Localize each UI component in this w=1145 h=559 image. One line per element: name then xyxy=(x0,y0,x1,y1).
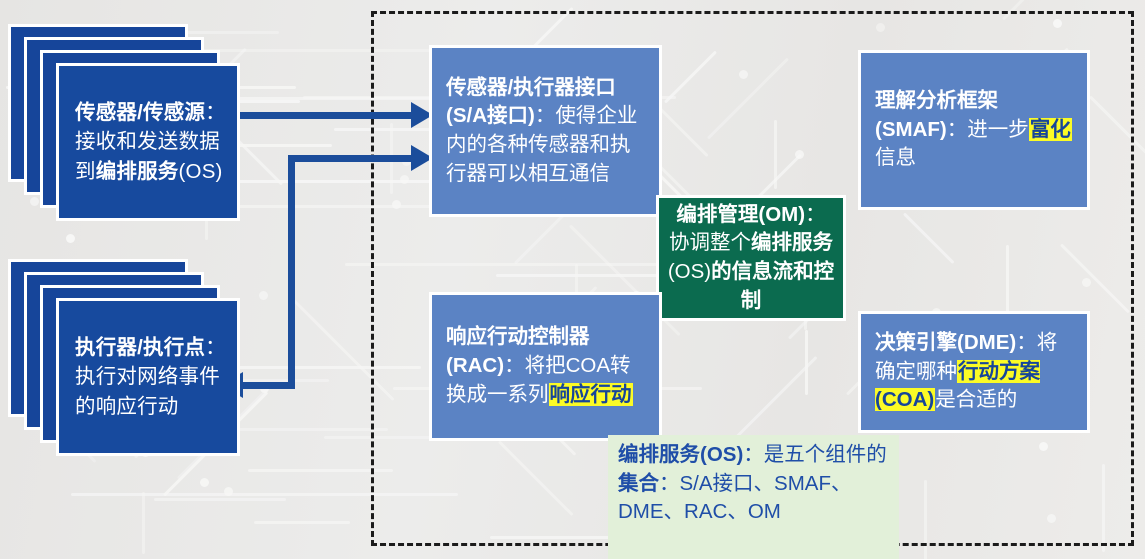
connector-loop-horizontal-top xyxy=(288,155,422,162)
panel-om[interactable]: 编排管理(OM)：协调整个编排服务(OS)的信息流和控制 xyxy=(656,195,846,321)
seg-os-title: 编排服务(OS) xyxy=(618,443,743,466)
seg-om-title: 编排管理(OM) xyxy=(676,203,805,226)
seg-om-de: 的 xyxy=(711,260,732,283)
panel-sa-interface-text: 传感器/执行器接口(S/A接口)：使得企业内的各种传感器和执行器可以相互通信 xyxy=(432,74,659,189)
panel-dme[interactable]: 决策引擎(DME)：将确定哪种行动方案(COA)是合适的 xyxy=(858,311,1090,433)
panel-smaf[interactable]: 理解分析框架(SMAF)：进一步富化信息 xyxy=(858,50,1090,210)
panel-rac[interactable]: 响应行动控制器(RAC)：将把COA转换成一系列响应行动 xyxy=(429,292,662,441)
card-sensor-source[interactable]: 传感器/传感源：接收和发送数据到编排服务(OS) xyxy=(56,63,240,221)
panel-os-summary-text: 编排服务(OS)：是五个组件的集合：S/A接口、SMAF、DME、RAC、OM xyxy=(608,435,899,527)
card-sensor-source-text: 传感器/传感源：接收和发送数据到编排服务(OS) xyxy=(59,98,237,185)
panel-rac-text: 响应行动控制器(RAC)：将把COA转换成一系列响应行动 xyxy=(432,323,659,409)
connector-loop-vertical xyxy=(288,155,295,389)
seg-dme-title: 决策引擎(DME) xyxy=(875,331,1016,354)
seg-actuator-title: 执行器/执行点 xyxy=(75,336,205,359)
panel-dme-text: 决策引擎(DME)：将确定哪种行动方案(COA)是合适的 xyxy=(861,329,1087,415)
panel-smaf-text: 理解分析框架(SMAF)：进一步富化信息 xyxy=(861,87,1087,173)
connector-to-actuator-line xyxy=(243,382,295,389)
seg-os-set-bold: 集合 xyxy=(618,472,659,495)
seg-om-os-abbr: (OS) xyxy=(668,260,711,283)
card-stack-actuator-point[interactable]: 执行器/执行点：执行对网络事件的响应行动 xyxy=(8,259,240,455)
diagram-canvas: 传感器/传感源：接收和发送数据到编排服务(OS) 执行器/执行点：执行对网络事件… xyxy=(0,0,1145,559)
seg-os-body: ：是五个组件的 xyxy=(743,443,887,466)
seg-dme-tail: 是合适的 xyxy=(935,388,1017,411)
seg-smaf-tail: 信息 xyxy=(875,146,916,169)
panel-os-summary[interactable]: 编排服务(OS)：是五个组件的集合：S/A接口、SMAF、DME、RAC、OM xyxy=(608,435,899,559)
card-actuator-point[interactable]: 执行器/执行点：执行对网络事件的响应行动 xyxy=(56,298,240,456)
seg-om-os-bold: 编排服务 xyxy=(751,231,833,254)
panel-sa-interface[interactable]: 传感器/执行器接口(S/A接口)：使得企业内的各种传感器和执行器可以相互通信 xyxy=(429,45,662,217)
seg-sensor-os-bold: 编排服务 xyxy=(96,160,179,183)
seg-smaf-highlight: 富化 xyxy=(1029,118,1072,141)
seg-sensor-os-abbr: (OS) xyxy=(179,160,223,183)
seg-om-tail: 信息流和控制 xyxy=(732,260,835,312)
card-stack-sensor-source[interactable]: 传感器/传感源：接收和发送数据到编排服务(OS) xyxy=(8,24,240,220)
seg-sensor-title: 传感器/传感源 xyxy=(75,101,205,124)
seg-rac-highlight: 响应行动 xyxy=(549,383,633,406)
seg-smaf-body: ：进一步 xyxy=(947,118,1029,141)
card-actuator-point-text: 执行器/执行点：执行对网络事件的响应行动 xyxy=(59,333,237,420)
panel-om-text: 编排管理(OM)：协调整个编排服务(OS)的信息流和控制 xyxy=(659,201,843,316)
connector-sensor-to-sa-line xyxy=(232,112,422,119)
